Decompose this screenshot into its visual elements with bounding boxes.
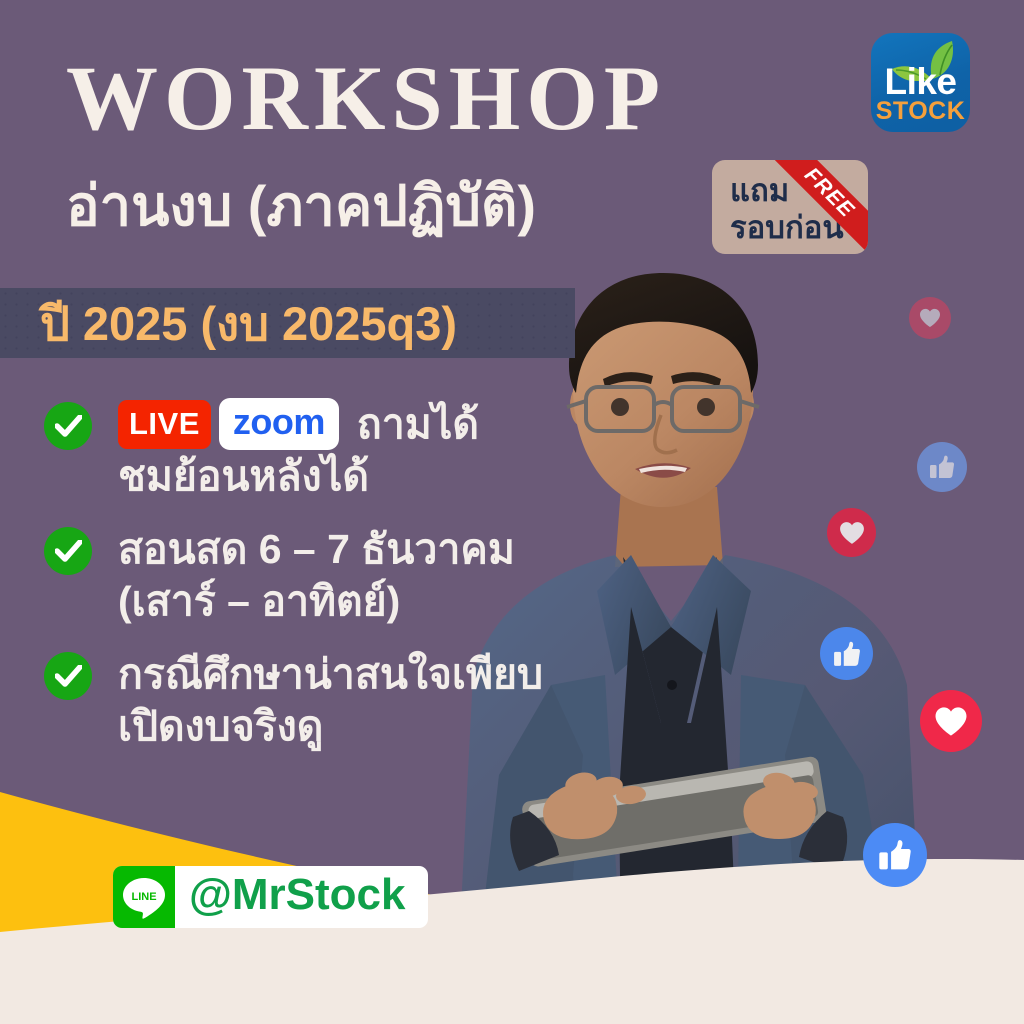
line-contact-pill[interactable]: LINE @MrStock (113, 866, 428, 928)
bullet-2-line2: (เสาร์ – อาทิตย์) (118, 575, 664, 627)
thumb-reaction-icon (863, 823, 927, 887)
check-icon (44, 402, 92, 450)
live-badge: LIVE (118, 400, 211, 449)
bonus-badge: แถม รอบก่อน FREE (712, 160, 868, 254)
bullet-3-line2: เปิดงบจริงดู (118, 700, 664, 752)
svg-text:LINE: LINE (131, 891, 156, 903)
year-banner-label: ปี 2025 (งบ 2025q3) (40, 300, 457, 347)
feature-list: LIVE zoom ถามได้ ชมย้อนหลังได้ สอนสด 6 –… (44, 398, 664, 773)
bonus-badge-line1: แถม (730, 175, 789, 206)
logo-word-like: Like (871, 63, 970, 100)
page-subtitle: อ่านงบ (ภาคปฏิบัติ) (66, 175, 536, 238)
list-item: กรณีศึกษาน่าสนใจเพียบ เปิดงบจริงดู (44, 648, 664, 753)
likestock-logo: Like STOCK (871, 33, 970, 132)
bonus-badge-line2: รอบก่อน (730, 212, 844, 243)
thumb-reaction-icon (917, 442, 967, 492)
page-title: WORKSHOP (66, 52, 666, 144)
check-icon (44, 652, 92, 700)
thumb-reaction-icon (820, 627, 873, 680)
heart-reaction-icon (827, 508, 876, 557)
list-item: LIVE zoom ถามได้ ชมย้อนหลังได้ (44, 398, 664, 503)
line-icon: LINE (113, 866, 175, 928)
bullet-2-line1: สอนสด 6 – 7 ธันวาคม (118, 523, 664, 575)
poster-canvas: WORKSHOP อ่านงบ (ภาคปฏิบัติ) Like STOCK … (0, 0, 1024, 1024)
heart-reaction-icon (920, 690, 982, 752)
list-item: สอนสด 6 – 7 ธันวาคม (เสาร์ – อาทิตย์) (44, 523, 664, 628)
bullet-3-line1: กรณีศึกษาน่าสนใจเพียบ (118, 648, 664, 700)
line-handle: @MrStock (175, 873, 428, 921)
year-banner: ปี 2025 (งบ 2025q3) (0, 288, 575, 358)
zoom-badge: zoom (219, 398, 339, 450)
check-icon (44, 527, 92, 575)
bullet-1-line2: ชมย้อนหลังได้ (118, 450, 664, 502)
heart-reaction-icon (909, 297, 951, 339)
logo-word-stock: STOCK (871, 99, 970, 124)
bullet-1-line1: ถามได้ (357, 398, 479, 450)
